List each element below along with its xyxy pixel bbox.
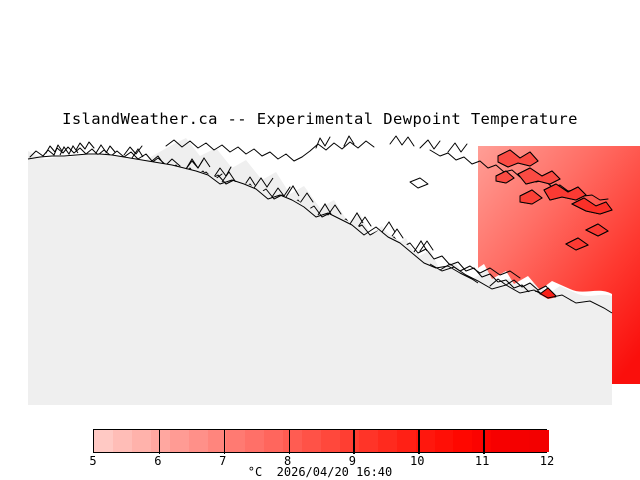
colorbar-segment (435, 430, 455, 452)
colorbar-segment (151, 430, 171, 452)
colorbar-segment (453, 430, 473, 452)
colorbar-segment (302, 430, 322, 452)
colorbar-segment (245, 430, 265, 452)
colorbar-segment (340, 430, 360, 452)
colorbar-segment (226, 430, 246, 452)
coastline-map (0, 134, 640, 409)
page-title: IslandWeather.ca -- Experimental Dewpoin… (0, 110, 640, 128)
colorbar-segment (264, 430, 284, 452)
colorbar-segment (510, 430, 530, 452)
colorbar-segment (170, 430, 190, 452)
colorbar-segment (397, 430, 417, 452)
colorbar[interactable] (93, 429, 547, 453)
colorbar-tick-mark (483, 430, 485, 454)
colorbar-segment (132, 430, 152, 452)
weather-map-page: IslandWeather.ca -- Experimental Dewpoin… (0, 0, 640, 480)
colorbar-gradient (93, 429, 547, 453)
colorbar-tick-mark (224, 430, 226, 454)
colorbar-units-timestamp: °C 2026/04/20 16:40 (0, 465, 640, 479)
colorbar-segment (378, 430, 398, 452)
colorbar-segment (94, 430, 114, 452)
map-panel[interactable] (0, 134, 640, 409)
colorbar-segment (359, 430, 379, 452)
colorbar-segment (189, 430, 209, 452)
colorbar-segment (283, 430, 303, 452)
colorbar-tick-mark (289, 430, 291, 454)
colorbar-segment (321, 430, 341, 452)
colorbar-segment (472, 430, 492, 452)
colorbar-segment (529, 430, 549, 452)
colorbar-tick-mark (418, 430, 420, 454)
colorbar-tick-mark (353, 430, 355, 454)
colorbar-tick-mark (159, 430, 161, 454)
colorbar-segment (113, 430, 133, 452)
colorbar-segment (491, 430, 511, 452)
